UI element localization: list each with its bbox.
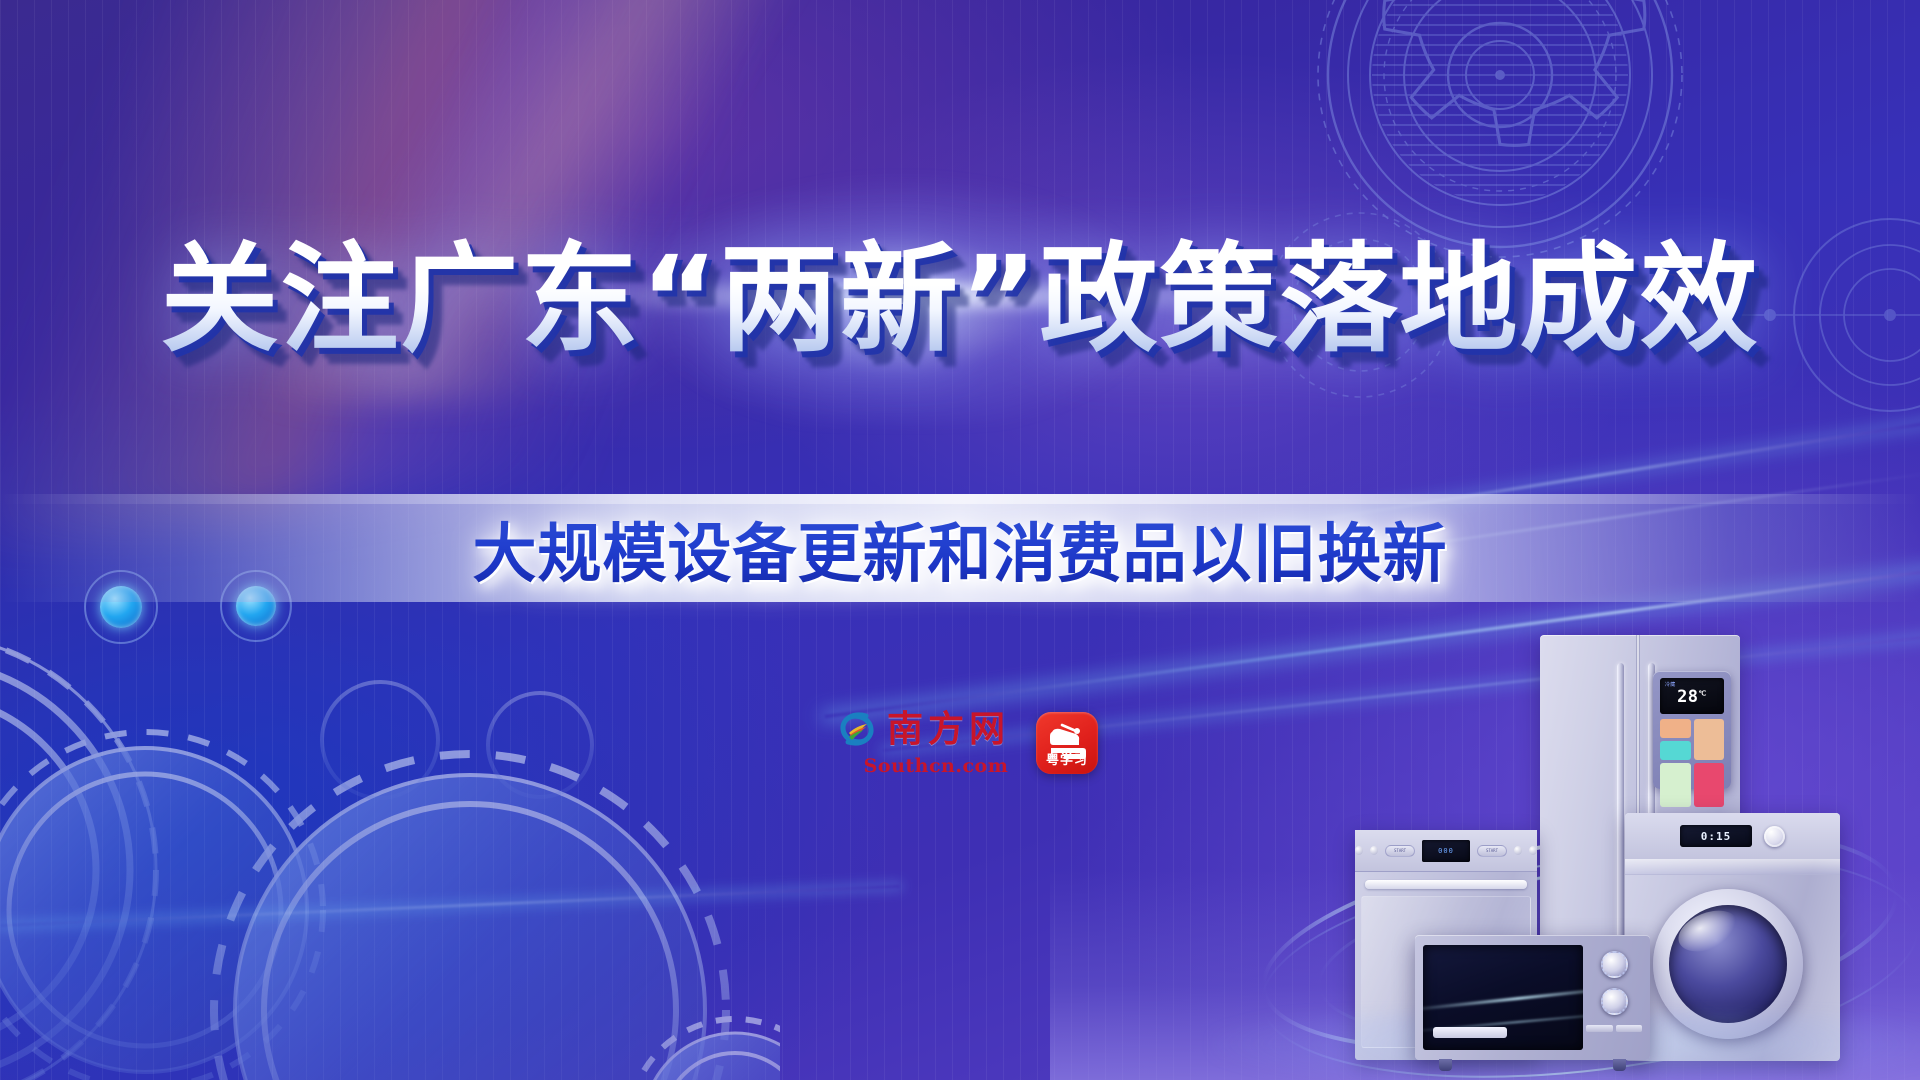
refrigerator-tile[interactable]	[1694, 719, 1725, 760]
page-subtitle: 大规模设备更新和消费品以旧换新	[473, 503, 1448, 595]
refrigerator-tile[interactable]	[1694, 763, 1725, 807]
dishwasher-button-icon[interactable]	[1370, 846, 1378, 855]
dishwasher-button-icon[interactable]	[1355, 846, 1363, 855]
microwave-foot-left	[1439, 1059, 1452, 1071]
appliance-group: 冷藏 28℃ START 000 START	[1355, 635, 1920, 1080]
washing-machine: 0:15	[1625, 813, 1840, 1061]
refrigerator-tile[interactable]	[1660, 741, 1691, 760]
blueprint-gear-icon	[1200, 0, 1920, 445]
microwave-knob-bottom[interactable]	[1601, 988, 1628, 1015]
southcn-logo[interactable]: 南方网 Southcn.com	[836, 708, 1010, 777]
banner-root: 关注广东“两新”政策落地成效 大规模设备更新和消费品以旧换新 南方网	[0, 0, 1920, 1080]
microwave-oven	[1415, 935, 1650, 1060]
refrigerator-temperature-unit: ℃	[1699, 689, 1707, 697]
yuexuexi-label: 粤学习	[1036, 749, 1098, 768]
southcn-swirl-icon	[836, 708, 878, 750]
dishwasher-start-button-right[interactable]: START	[1477, 845, 1507, 857]
yuexuexi-logo[interactable]: 粤学习	[1036, 712, 1098, 774]
refrigerator-tile[interactable]	[1660, 719, 1691, 738]
gear-cluster-icon	[0, 580, 780, 1080]
southcn-name-cn: 南方网	[887, 711, 1010, 747]
southcn-logo-row: 南方网	[836, 708, 1010, 750]
subtitle-container: 大规模设备更新和消费品以旧换新	[0, 503, 1920, 595]
dishwasher-control-panel[interactable]: START 000 START	[1355, 830, 1537, 872]
washing-machine-control-panel[interactable]: 0:15	[1625, 813, 1840, 859]
microwave-key[interactable]	[1616, 1025, 1643, 1032]
refrigerator-tile[interactable]	[1660, 763, 1691, 807]
washing-machine-lip	[1625, 859, 1840, 875]
refrigerator-temperature: 28℃	[1660, 687, 1724, 707]
refrigerator-control-panel[interactable]: 冷藏 28℃	[1653, 671, 1731, 789]
dishwasher-button-icon[interactable]	[1529, 846, 1537, 855]
microwave-handle[interactable]	[1433, 1027, 1507, 1038]
microwave-foot-right	[1613, 1059, 1626, 1071]
dishwasher-display: 000	[1422, 840, 1470, 862]
logo-group: 南方网 Southcn.com 粤学习	[836, 708, 1098, 777]
microwave-key[interactable]	[1586, 1025, 1613, 1032]
washing-machine-knob[interactable]	[1764, 826, 1785, 847]
southcn-name-en: Southcn.com	[864, 755, 1009, 777]
dishwasher-handle[interactable]	[1365, 880, 1527, 889]
microwave-knob-top[interactable]	[1601, 951, 1628, 978]
refrigerator-app-tiles[interactable]	[1660, 719, 1724, 807]
dishwasher-start-button-left[interactable]: START	[1385, 845, 1415, 857]
main-title-container: 关注广东“两新”政策落地成效	[0, 230, 1920, 369]
refrigerator-handle-left[interactable]	[1617, 663, 1624, 963]
washing-machine-display: 0:15	[1680, 825, 1752, 847]
microwave-keypad[interactable]	[1586, 1025, 1642, 1032]
page-title: 关注广东“两新”政策落地成效	[160, 230, 1759, 369]
refrigerator-display: 冷藏 28℃	[1660, 678, 1724, 714]
microwave-control-panel[interactable]	[1586, 945, 1642, 1050]
light-sweep-5	[0, 885, 899, 926]
dishwasher-button-icon[interactable]	[1514, 846, 1522, 855]
